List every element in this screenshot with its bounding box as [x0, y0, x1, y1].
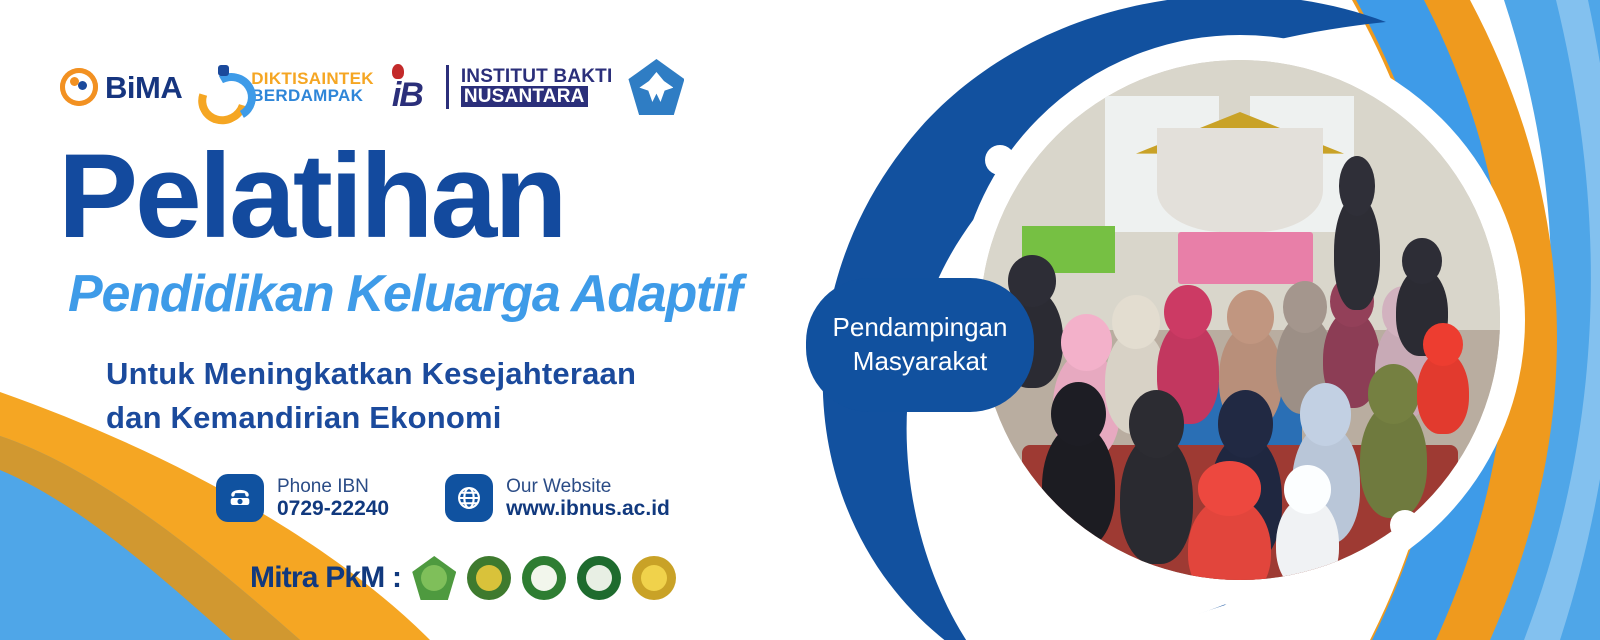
- mitra-seal-3: [522, 556, 566, 600]
- tagline-line-1: Untuk Meningkatkan Kesejahteraan: [106, 352, 636, 396]
- phone-label: Phone IBN: [277, 476, 389, 497]
- mitra-seal-5: [632, 556, 676, 600]
- swoosh-bottom-left-orange-tail: [0, 436, 300, 640]
- pendampingan-badge: Pendampingan Masyarakat: [806, 278, 1034, 412]
- mitra-seal-4: [577, 556, 621, 600]
- tagline-line-2: dan Kemandirian Ekonomi: [106, 396, 636, 440]
- ibn-line-2: NUSANTARA: [461, 86, 588, 107]
- logo-bima: BiMA: [60, 55, 182, 119]
- mitra-seal-2: [467, 556, 511, 600]
- ibn-line-1: INSTITUT BAKTI: [461, 67, 613, 86]
- badge-line-1: Pendampingan: [833, 311, 1008, 345]
- ibn-divider: [446, 65, 449, 109]
- contact-row: Phone IBN 0729-22240 Our Website www.ibn…: [216, 474, 670, 522]
- diktisaintek-line-1: DIKTISAINTEK: [251, 70, 374, 87]
- globe-icon: [445, 474, 493, 522]
- mitra-seal-1: [412, 556, 456, 600]
- tut-wuri-handayani-icon: [628, 59, 684, 115]
- phone-value: 0729-22240: [277, 497, 389, 521]
- mitra-label: Mitra PkM :: [250, 561, 401, 595]
- ring-dot-bottom-right: [1390, 510, 1420, 540]
- bima-wordmark: BiMA: [105, 72, 182, 103]
- contact-phone[interactable]: Phone IBN 0729-22240: [216, 474, 389, 522]
- swoosh-right-lightblue-thin: [1524, 0, 1600, 640]
- ring-dot-top-left: [985, 145, 1015, 175]
- telephone-icon: [216, 474, 264, 522]
- page-subtitle: Pendidikan Keluarga Adaptif: [68, 268, 742, 320]
- badge-line-2: Masyarakat: [833, 345, 1008, 379]
- logo-diktisaintek: DIKTISAINTEK BERDAMPAK: [198, 55, 374, 119]
- website-label: Our Website: [506, 476, 670, 497]
- ibn-monogram-icon: iB: [390, 62, 434, 112]
- contact-website[interactable]: Our Website www.ibnus.ac.id: [445, 474, 670, 522]
- logo-row: BiMA DIKTISAINTEK BERDAMPAK iB INSTITUT …: [60, 55, 684, 119]
- photo-scene: [980, 60, 1500, 580]
- diktisaintek-line-2: BERDAMPAK: [251, 87, 374, 104]
- website-value[interactable]: www.ibnus.ac.id: [506, 497, 670, 521]
- photo-circle: [980, 60, 1500, 580]
- bima-badge-icon: [60, 68, 98, 106]
- page-title: Pelatihan: [58, 136, 565, 256]
- tagline: Untuk Meningkatkan Kesejahteraan dan Kem…: [106, 352, 636, 440]
- mitra-row: Mitra PkM :: [250, 556, 676, 600]
- ibn-monogram-text: iB: [392, 78, 422, 112]
- diktisaintek-mark-icon: [198, 64, 244, 110]
- banner-root: Pendampingan Masyarakat BiMA DIKTISAINTE…: [0, 0, 1600, 640]
- logo-institut-bakti-nusantara: iB INSTITUT BAKTI NUSANTARA: [390, 55, 613, 119]
